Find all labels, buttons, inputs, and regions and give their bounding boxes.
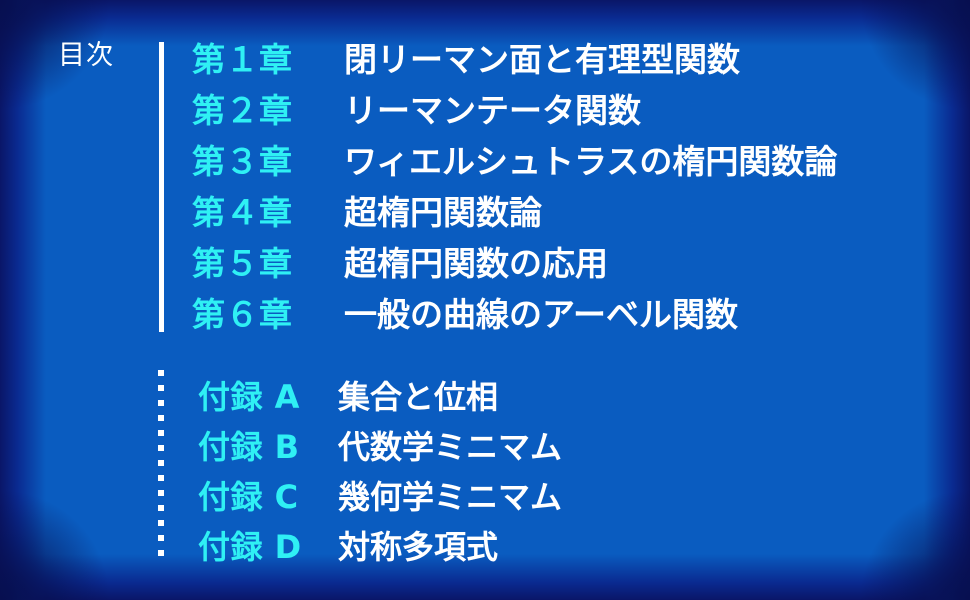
appendix-row[interactable]: 付録 D 対称多項式 [198, 522, 898, 572]
appendix-section-rule [158, 370, 164, 560]
chapter-row[interactable]: 第２章 リーマンテータ関数 [192, 84, 952, 135]
chapter-row[interactable]: 第５章 超楕円関数の応用 [192, 237, 952, 288]
chapter-label: 第２章 [192, 84, 344, 132]
chapter-section-rule [159, 42, 164, 332]
appendix-label: 付録 B [198, 422, 338, 468]
chapter-list: 第１章 閉リーマン面と有理型関数 第２章 リーマンテータ関数 第３章 ワィエルシ… [192, 33, 952, 339]
appendix-row[interactable]: 付録 C 幾何学ミニマム [198, 472, 898, 522]
chapter-row[interactable]: 第６章 一般の曲線のアーベル関数 [192, 288, 952, 339]
chapter-label: 第６章 [192, 288, 344, 336]
appendix-title: 幾何学ミニマム [338, 472, 562, 518]
appendix-label: 付録 A [198, 372, 338, 418]
appendix-list: 付録 A 集合と位相 付録 B 代数学ミニマム 付録 C 幾何学ミニマム 付録 … [198, 372, 898, 572]
chapter-label: 第１章 [192, 33, 344, 81]
page-title: 目次 [58, 40, 150, 72]
appendix-label: 付録 D [198, 522, 338, 568]
appendix-row[interactable]: 付録 B 代数学ミニマム [198, 422, 898, 472]
chapter-label: 第５章 [192, 237, 344, 285]
chapter-title: 閉リーマン面と有理型関数 [344, 33, 740, 81]
appendix-title: 集合と位相 [338, 372, 498, 418]
appendix-row[interactable]: 付録 A 集合と位相 [198, 372, 898, 422]
chapter-title: 一般の曲線のアーベル関数 [344, 288, 738, 336]
chapter-label: 第４章 [192, 186, 344, 234]
chapter-label: 第３章 [192, 135, 344, 183]
chapter-row[interactable]: 第４章 超楕円関数論 [192, 186, 952, 237]
frame-edge-left [0, 0, 46, 600]
appendix-label: 付録 C [198, 472, 338, 518]
chapter-title: 超楕円関数論 [344, 186, 542, 234]
appendix-title: 代数学ミニマム [338, 422, 562, 468]
chapter-title: リーマンテータ関数 [344, 84, 641, 132]
chapter-row[interactable]: 第３章 ワィエルシュトラスの楕円関数論 [192, 135, 952, 186]
table-of-contents-page: 目次 第１章 閉リーマン面と有理型関数 第２章 リーマンテータ関数 第３章 ワィ… [0, 0, 970, 600]
chapter-title: ワィエルシュトラスの楕円関数論 [344, 135, 837, 183]
chapter-title: 超楕円関数の応用 [344, 237, 608, 285]
appendix-title: 対称多項式 [338, 522, 498, 568]
chapter-row[interactable]: 第１章 閉リーマン面と有理型関数 [192, 33, 952, 84]
